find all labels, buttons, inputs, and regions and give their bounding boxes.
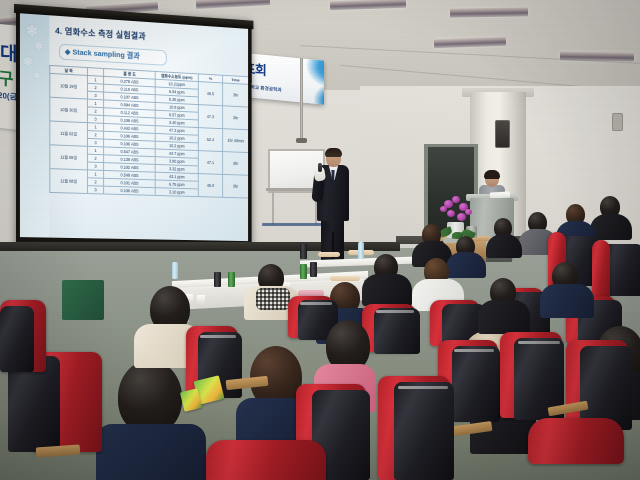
- cell-date: 10월 30일: [50, 97, 88, 122]
- cell-time: 3hr: [223, 106, 248, 130]
- audience-checkered-scarf: [256, 288, 290, 310]
- seat-trim: [376, 310, 414, 313]
- swoosh-graphic-icon: [286, 53, 324, 105]
- cell-percent: 52.4: [198, 128, 222, 152]
- cell-absorbance: 0.106 ABS: [104, 186, 156, 195]
- cell-date: 11월 06일: [50, 145, 88, 170]
- audience-shoulders: [446, 252, 486, 278]
- table-body: 10월 29일10.278 ABS10.21ppm48.53hr20.116 A…: [50, 73, 248, 198]
- cell-percent: 48.5: [198, 82, 222, 106]
- slide-decoration-band: ❄ ❄ ❄ ❄: [20, 13, 49, 237]
- cell-percent: 47.3: [198, 105, 222, 129]
- snowflake-icon: ❄: [23, 55, 33, 68]
- water-bottle: [358, 242, 364, 259]
- recessed-fluorescent-panel: [330, 0, 406, 10]
- snowflake-icon: ❄: [26, 24, 38, 40]
- cell-date: 11월 02일: [50, 121, 88, 146]
- banner-pole: [300, 58, 303, 140]
- audience-head: [118, 360, 182, 434]
- orchid-bloom: [457, 213, 466, 221]
- auditorium-photo: 대 구 · 20(금) 발표회 표회 대구대학교 환경공학과 ❄ ❄ ❄ ❄ 4…: [0, 0, 640, 480]
- cell-index: 3: [87, 186, 103, 194]
- whiteboard-leg: [272, 191, 274, 225]
- cell-time: 3hr: [223, 152, 248, 176]
- wall-fixture: [612, 113, 623, 131]
- audience-shoulders: [486, 234, 522, 258]
- cell-date: 11월 08일: [50, 169, 88, 194]
- screen-frame: ❄ ❄ ❄ ❄ 4. 염화수소 측정 실험결과 ◆ Stack sampling…: [16, 4, 252, 255]
- wall-speaker-icon: [495, 120, 510, 148]
- water-bottle: [172, 262, 178, 279]
- orchid-bloom: [465, 209, 472, 215]
- green-partition: [62, 280, 104, 320]
- seat-back[interactable]: [0, 306, 34, 372]
- microphone-icon: [318, 163, 322, 172]
- audience-shoulders: [478, 300, 530, 334]
- banner-pole-base: [296, 138, 307, 143]
- recessed-fluorescent-panel: [434, 37, 506, 49]
- seat[interactable]: [592, 240, 610, 300]
- seat-trim: [398, 386, 448, 389]
- beverage-can: [300, 264, 307, 279]
- beverage-can: [310, 262, 317, 277]
- orchid-bloom: [452, 196, 460, 203]
- audience-shoulders: [96, 424, 206, 480]
- podium-person-hair: [484, 170, 500, 179]
- slide-surface: ❄ ❄ ❄ ❄ 4. 염화수소 측정 실험결과 ◆ Stack sampling…: [20, 13, 248, 241]
- banner-left-line1: 대: [0, 38, 17, 67]
- orchid-bloom: [440, 206, 447, 212]
- audience-shoulders: [590, 214, 632, 240]
- beverage-can: [214, 272, 221, 287]
- seat-cushion[interactable]: [528, 418, 624, 464]
- presenter-hair: [325, 148, 342, 157]
- audience-shoulders: [540, 284, 594, 318]
- cell-percent: 46.0: [198, 174, 222, 198]
- beverage-can: [228, 272, 235, 287]
- recessed-fluorescent-panel: [196, 0, 270, 9]
- paper-cup: [197, 295, 205, 304]
- beverage-can: [300, 244, 307, 259]
- slide-data-table: 날 짜 흡 광 도 염화수소농도 (ppm) % Time 10월 29일10.…: [49, 65, 248, 199]
- snowflake-icon: ❄: [35, 42, 43, 52]
- whiteboard-base: [262, 223, 324, 226]
- seat-trim: [454, 349, 494, 352]
- snack-tray: [318, 252, 340, 257]
- cell-time: 3hr: [223, 83, 248, 107]
- seat-trim: [518, 341, 560, 344]
- orchid-bloom: [447, 210, 455, 217]
- seat-back[interactable]: [394, 382, 454, 480]
- seat-trim: [300, 302, 332, 305]
- seat-back[interactable]: [374, 308, 420, 354]
- bullet-marker-icon: ◆: [65, 47, 71, 56]
- seat-cushion[interactable]: [206, 440, 326, 480]
- audience-shoulders: [362, 274, 412, 306]
- seat-trim: [200, 335, 236, 338]
- cell-time: 3hr: [223, 174, 248, 198]
- seat-back[interactable]: [452, 346, 500, 422]
- cell-percent: 47.1: [198, 151, 222, 175]
- cell-time: 1hr 40min: [223, 129, 248, 153]
- projection-screen: ❄ ❄ ❄ ❄ 4. 염화수소 측정 실험결과 ◆ Stack sampling…: [16, 4, 252, 255]
- recessed-fluorescent-panel: [450, 7, 528, 17]
- snack-tray: [330, 276, 360, 281]
- snowflake-icon: ❄: [34, 72, 41, 80]
- cell-date: 10월 29일: [50, 73, 88, 99]
- cell-ppm: 3.10 ppm: [155, 188, 198, 197]
